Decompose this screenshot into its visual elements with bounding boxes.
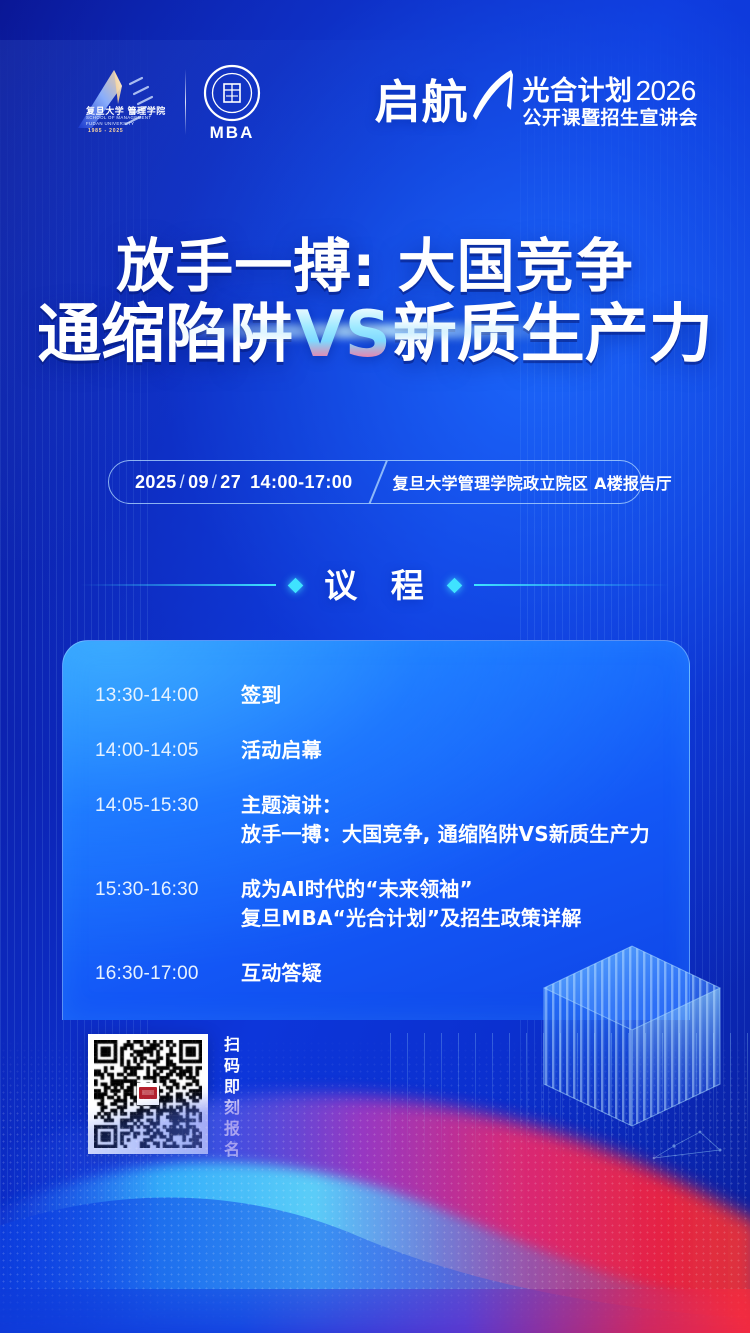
qihang-wordmark: 启航 [374, 79, 468, 125]
ground-strip-decor [0, 1289, 750, 1333]
fudan-sm-name-en-2: FUDAN UNIVERSITY [86, 121, 134, 127]
agenda-line: 主题演讲： [241, 791, 689, 820]
agenda-row: 16:30-17:00互动答疑 [95, 959, 689, 988]
date-sep-2: / [209, 472, 220, 492]
logo-divider [185, 69, 186, 135]
agenda-line: 放手一搏：大国竞争, 通缩陷阱VS新质生产力 [241, 820, 689, 849]
agenda-line: 签到 [241, 681, 689, 710]
event-venue: 复旦大学管理学院政立院区 A楼报告厅 [393, 470, 694, 494]
title-line-2-post: 新质生产力 [393, 298, 713, 372]
fudan-seal-icon [203, 64, 261, 122]
agenda-line: 成为AI时代的“未来领袖” [241, 875, 689, 904]
program-name: 光合计划 [522, 78, 632, 105]
fudan-mba-logo: MBA [203, 64, 261, 141]
program-text-block: 光合计划 2026 公开课暨招生宣讲会 [522, 77, 698, 128]
agenda-list: 13:30-14:00签到14:00-14:05活动启幕14:05-15:30主… [63, 641, 689, 988]
event-time: 14:00-17:00 [250, 472, 352, 492]
wave-rain-lines-decor [390, 1033, 750, 1183]
agenda-line: 互动答疑 [241, 959, 689, 988]
agenda-time: 14:00-14:05 [95, 736, 227, 765]
agenda-time: 15:30-16:30 [95, 875, 227, 904]
title-line-1: 放手一搏: 大国竞争 [0, 236, 750, 296]
agenda-section-heading: 议 程 [0, 556, 750, 614]
agenda-row: 15:30-16:30成为AI时代的“未来领袖”复旦MBA“光合计划”及招生政策… [95, 875, 689, 933]
title-line-2-pre: 通缩陷阱 [37, 298, 293, 372]
agenda-row: 13:30-14:00签到 [95, 681, 689, 710]
poster-root: 复旦大学 管理学院 SCHOOL OF MANAGEMENT FUDAN UNI… [0, 0, 750, 1333]
page-title: 放手一搏: 大国竞争 通缩陷阱VS新质生产力 [0, 236, 750, 369]
event-meta-pill: 2025/09/2714:00-17:00 复旦大学管理学院政立院区 A楼报告厅 [108, 460, 642, 504]
agenda-time: 13:30-14:00 [95, 681, 227, 710]
qr-center-logo [137, 1083, 159, 1105]
poster-header: 复旦大学 管理学院 SCHOOL OF MANAGEMENT FUDAN UNI… [0, 56, 750, 148]
agenda-line: 复旦MBA“光合计划”及招生政策详解 [241, 904, 689, 933]
title-line-2: 通缩陷阱VS新质生产力 [0, 302, 750, 369]
fudan-sm-years: 1985 - 2025 [88, 128, 124, 134]
agenda-heading-text: 议 程 [315, 569, 435, 602]
program-year: 2026 [635, 77, 695, 105]
heading-rule-left-decor [80, 584, 276, 586]
program-brand-lockup: 启航 光合计划 2026 公开课暨招生宣讲会 [374, 66, 698, 138]
sail-icon [470, 66, 516, 138]
agenda-time: 14:05-15:30 [95, 791, 227, 820]
program-subtitle: 公开课暨招生宣讲会 [522, 109, 698, 128]
registration-qr-block[interactable]: 扫码即刻报名 [88, 1034, 238, 1162]
event-year: 2025 [135, 472, 177, 492]
agenda-card: 13:30-14:00签到14:00-14:05活动启幕14:05-15:30主… [62, 640, 690, 1020]
agenda-time: 16:30-17:00 [95, 959, 227, 988]
event-month: 09 [188, 472, 209, 492]
agenda-line: 活动启幕 [241, 736, 689, 765]
heading-rule-right-decor [474, 584, 670, 586]
event-datetime: 2025/09/2714:00-17:00 [109, 472, 363, 493]
diamond-icon-left [288, 577, 304, 593]
agenda-detail: 成为AI时代的“未来领袖”复旦MBA“光合计划”及招生政策详解 [227, 875, 689, 933]
agenda-detail: 活动启幕 [227, 736, 689, 765]
fudan-sm-logo: 复旦大学 管理学院 SCHOOL OF MANAGEMENT FUDAN UNI… [72, 64, 168, 140]
qr-code-icon[interactable] [88, 1034, 208, 1154]
qr-caption: 扫码即刻报名 [222, 1036, 238, 1162]
mba-wordmark: MBA [210, 124, 255, 141]
agenda-detail: 签到 [227, 681, 689, 710]
meta-slash-divider [363, 460, 393, 504]
agenda-detail: 主题演讲：放手一搏：大国竞争, 通缩陷阱VS新质生产力 [227, 791, 689, 849]
diamond-icon-right [446, 577, 462, 593]
agenda-row: 14:05-15:30主题演讲：放手一搏：大国竞争, 通缩陷阱VS新质生产力 [95, 791, 689, 849]
institution-logos: 复旦大学 管理学院 SCHOOL OF MANAGEMENT FUDAN UNI… [72, 64, 261, 141]
agenda-detail: 互动答疑 [227, 959, 689, 988]
program-title-row: 光合计划 2026 [522, 77, 698, 105]
date-sep-1: / [177, 472, 188, 492]
event-day: 27 [220, 472, 241, 492]
agenda-row: 14:00-14:05活动启幕 [95, 736, 689, 765]
title-vs-mark: VS [293, 298, 393, 372]
